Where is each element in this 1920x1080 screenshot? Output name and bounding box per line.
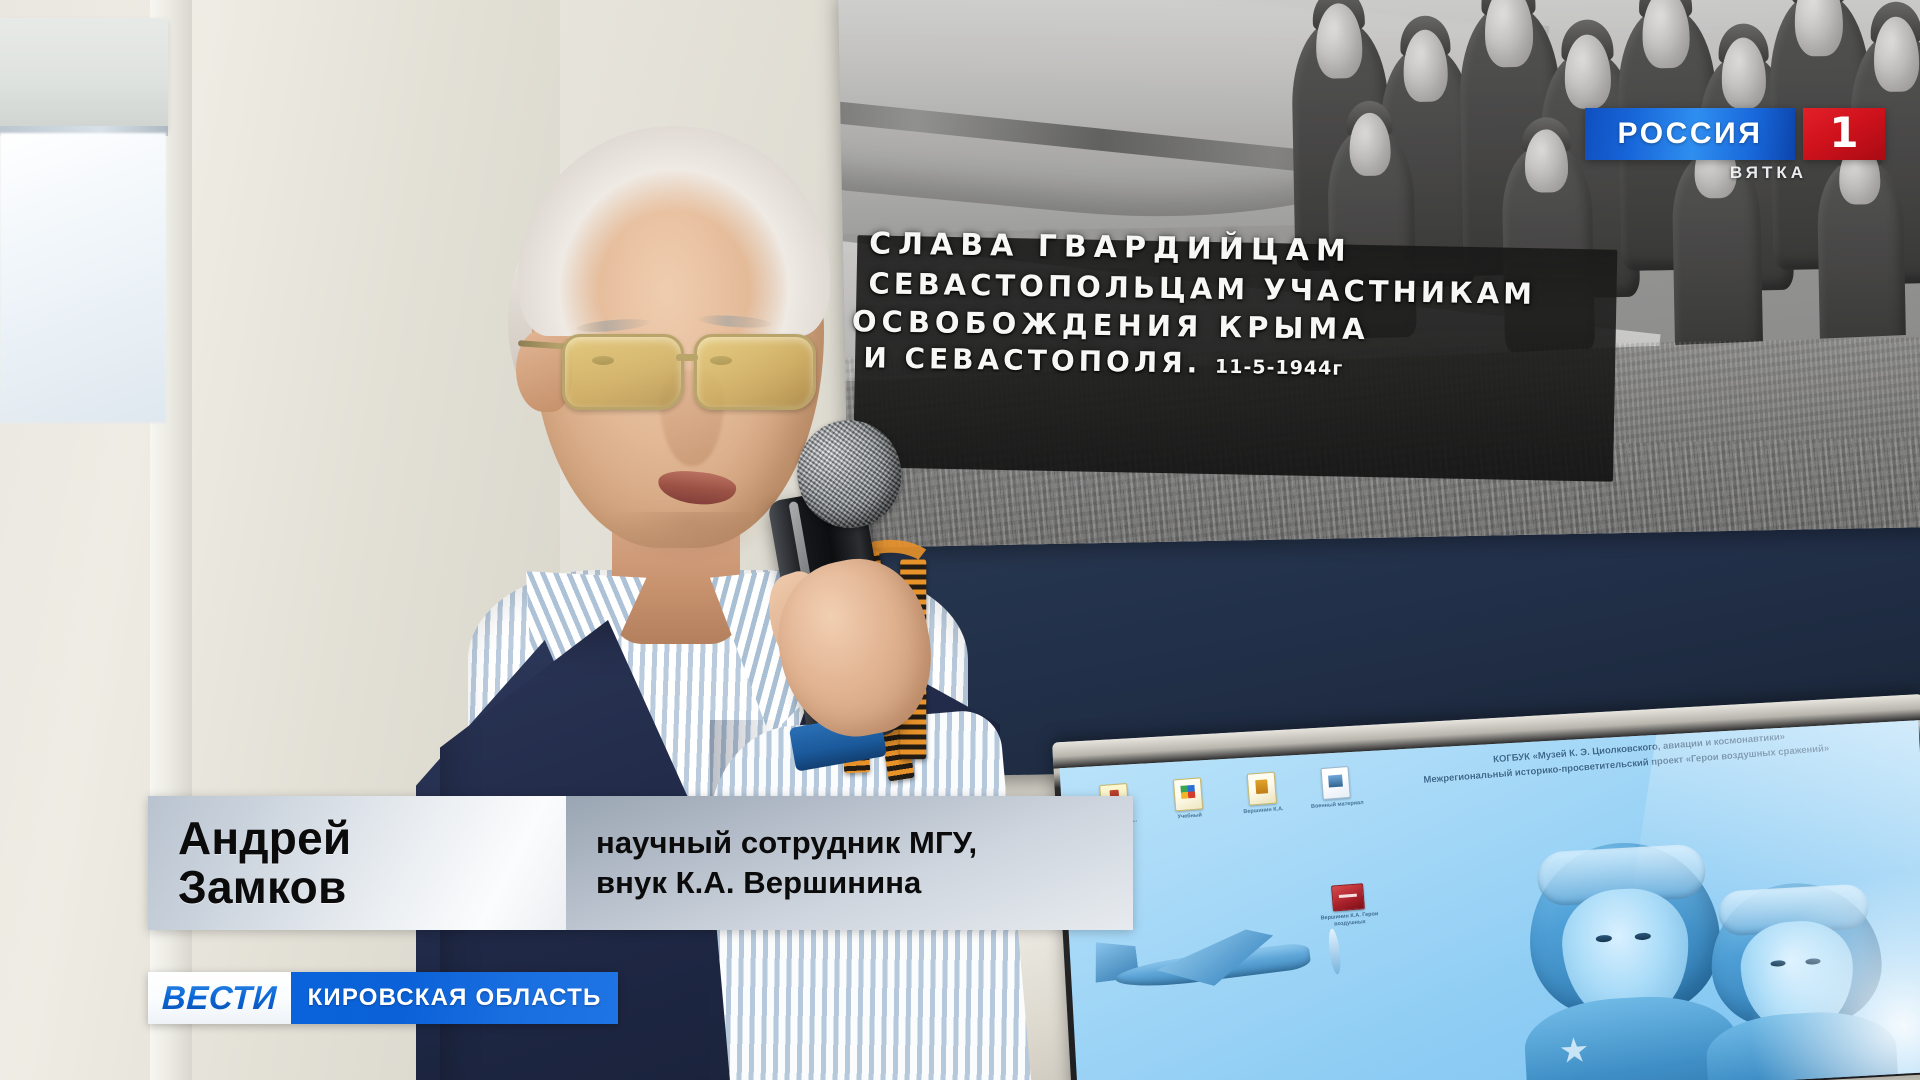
desktop-icon-label: Вершинин К.А. bbox=[1236, 806, 1290, 817]
guest-name-panel: Андрей Замков bbox=[148, 796, 566, 930]
speaker-figure bbox=[380, 120, 1080, 1080]
lower-third-nameplate: Андрей Замков научный сотрудник МГУ, вну… bbox=[148, 796, 1133, 930]
guest-title: научный сотрудник МГУ, внук К.А. Вершини… bbox=[596, 823, 977, 904]
program-name: ВЕСТИ bbox=[161, 979, 277, 1017]
guest-first-name: Андрей bbox=[178, 814, 351, 863]
glasses-lens bbox=[694, 334, 816, 410]
desktop-icon-document[interactable]: Вершинин К.А. bbox=[1234, 771, 1291, 817]
presentation-screen[interactable]: Вечер памяти... Учебный Вершинин К.А. Во… bbox=[1052, 694, 1920, 1080]
channel-region: ВЯТКА bbox=[1585, 163, 1885, 183]
speaker-chin-shadow bbox=[610, 512, 770, 566]
region-name: КИРОВСКАЯ ОБЛАСТЬ bbox=[308, 984, 602, 1012]
channel-number: 1 bbox=[1829, 112, 1858, 154]
screen-glare bbox=[1725, 840, 1920, 1080]
photo-soldier-head bbox=[1794, 0, 1844, 57]
red-presentation-icon bbox=[1331, 883, 1365, 911]
tv-screen-content[interactable]: Вечер памяти... Учебный Вершинин К.А. Во… bbox=[1060, 720, 1920, 1080]
guest-title-line-1: научный сотрудник МГУ, bbox=[596, 823, 977, 863]
pilot-eye bbox=[1596, 935, 1613, 943]
glasses-bridge bbox=[676, 354, 698, 361]
desktop-icon-powerpoint[interactable]: Учебный bbox=[1160, 776, 1217, 822]
desktop-icon-label: Учебный bbox=[1163, 811, 1217, 822]
star-icon: ★ bbox=[1558, 1033, 1594, 1069]
document-file-icon bbox=[1247, 772, 1277, 806]
window-light bbox=[0, 133, 166, 423]
guest-title-line-2: внук К.А. Вершинина bbox=[596, 863, 977, 903]
photo-soldier-head bbox=[1484, 0, 1534, 68]
window-blind bbox=[0, 18, 168, 130]
desktop-icon-label: Военный материал bbox=[1310, 800, 1364, 811]
channel-logo-row: РОССИЯ 1 bbox=[1585, 108, 1885, 160]
pilot-portrait: ★ bbox=[1525, 838, 1730, 1080]
channel-number-block: 1 bbox=[1803, 108, 1885, 160]
channel-name: РОССИЯ bbox=[1617, 117, 1762, 151]
glasses-lens bbox=[562, 334, 684, 410]
guest-last-name: Замков bbox=[178, 863, 351, 912]
program-banner: ВЕСТИ КИРОВСКАЯ ОБЛАСТЬ bbox=[148, 972, 618, 1024]
pilot-eye bbox=[1635, 933, 1652, 941]
channel-logo: РОССИЯ 1 ВЯТКА bbox=[1585, 108, 1885, 186]
region-banner: КИРОВСКАЯ ОБЛАСТЬ bbox=[291, 972, 618, 1024]
powerpoint-file-icon bbox=[1173, 777, 1203, 811]
speaker-hair bbox=[518, 126, 830, 336]
program-logo: ВЕСТИ bbox=[148, 972, 291, 1024]
photo-soldier bbox=[1816, 158, 1906, 360]
broadcast-frame: СЛАВА ГВАРДИЙЦАМ СЕВАСТОПОЛЬЦАМ УЧАСТНИК… bbox=[0, 0, 1920, 1080]
microphone-icon bbox=[789, 412, 912, 544]
microphone-grille bbox=[789, 412, 910, 536]
guest-name: Андрей Замков bbox=[178, 814, 351, 912]
photo-soldier-head bbox=[1642, 0, 1691, 69]
aircraft-propeller bbox=[1327, 928, 1343, 975]
channel-name-block: РОССИЯ bbox=[1585, 108, 1795, 160]
guest-title-panel: научный сотрудник МГУ, внук К.А. Вершини… bbox=[566, 796, 1133, 930]
eyeglasses-icon bbox=[530, 326, 850, 418]
